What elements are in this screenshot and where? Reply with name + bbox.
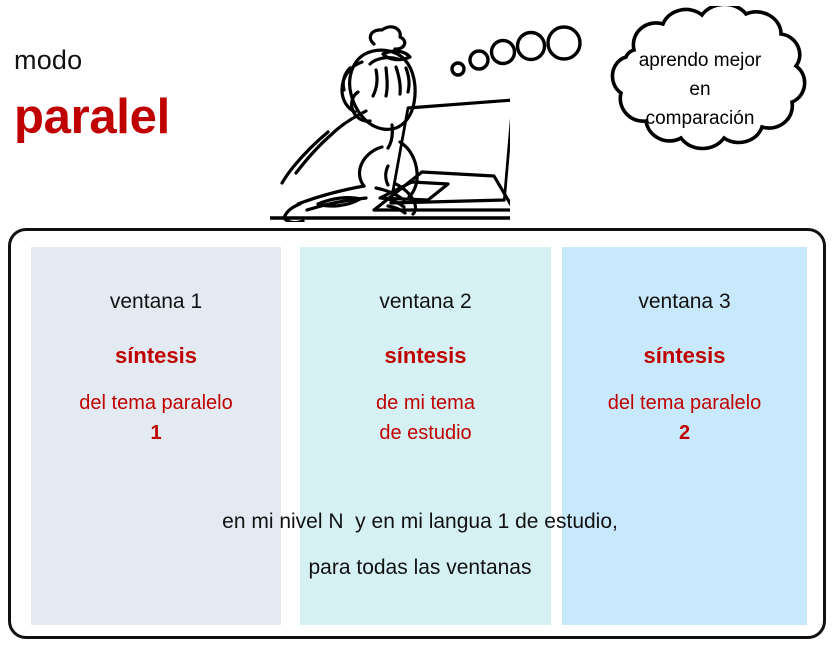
window-label-3: ventana 3 <box>562 290 807 314</box>
synthesis-label-3: síntesis <box>562 343 807 368</box>
thought-cloud: aprendo mejor en comparación <box>572 6 828 174</box>
synthesis-description-2-line-1: de mi tema <box>300 388 551 418</box>
synthesis-description-3: del tema paralelo 2 <box>562 388 807 448</box>
windows-columns: ventana 1 síntesis del tema paralelo 1 v… <box>11 231 829 642</box>
window-label-1: ventana 1 <box>31 290 281 314</box>
mode-label: modo <box>14 47 82 74</box>
thought-cloud-line-3: comparación <box>572 104 828 133</box>
window-column-2-content: ventana 2 síntesis de mi tema de estudio <box>300 247 551 448</box>
window-column-1[interactable]: ventana 1 síntesis del tema paralelo 1 <box>31 247 281 625</box>
thought-cloud-line-2: en <box>572 75 828 104</box>
synthesis-description-1: del tema paralelo 1 <box>31 388 281 448</box>
window-column-3-content: ventana 3 síntesis del tema paralelo 2 <box>562 247 807 448</box>
synthesis-number-1: 1 <box>31 418 281 448</box>
synthesis-number-3: 2 <box>562 418 807 448</box>
synthesis-label-2: síntesis <box>300 343 551 368</box>
synthesis-description-3-line-1: del tema paralelo <box>562 388 807 418</box>
window-column-2[interactable]: ventana 2 síntesis de mi tema de estudio <box>300 247 551 625</box>
window-column-1-content: ventana 1 síntesis del tema paralelo 1 <box>31 247 281 448</box>
synthesis-description-1-line-1: del tema paralelo <box>31 388 281 418</box>
window-label-2: ventana 2 <box>300 290 551 314</box>
synthesis-description-2: de mi tema de estudio <box>300 388 551 448</box>
thought-cloud-line-1: aprendo mejor <box>572 46 828 75</box>
window-column-3[interactable]: ventana 3 síntesis del tema paralelo 2 <box>562 247 807 625</box>
synthesis-description-2-line-2: de estudio <box>300 418 551 448</box>
synthesis-label-1: síntesis <box>31 343 281 368</box>
mode-title: paralel <box>14 93 170 142</box>
parallel-mode-panel: ventana 1 síntesis del tema paralelo 1 v… <box>8 228 826 639</box>
thought-cloud-text: aprendo mejor en comparación <box>572 46 828 133</box>
